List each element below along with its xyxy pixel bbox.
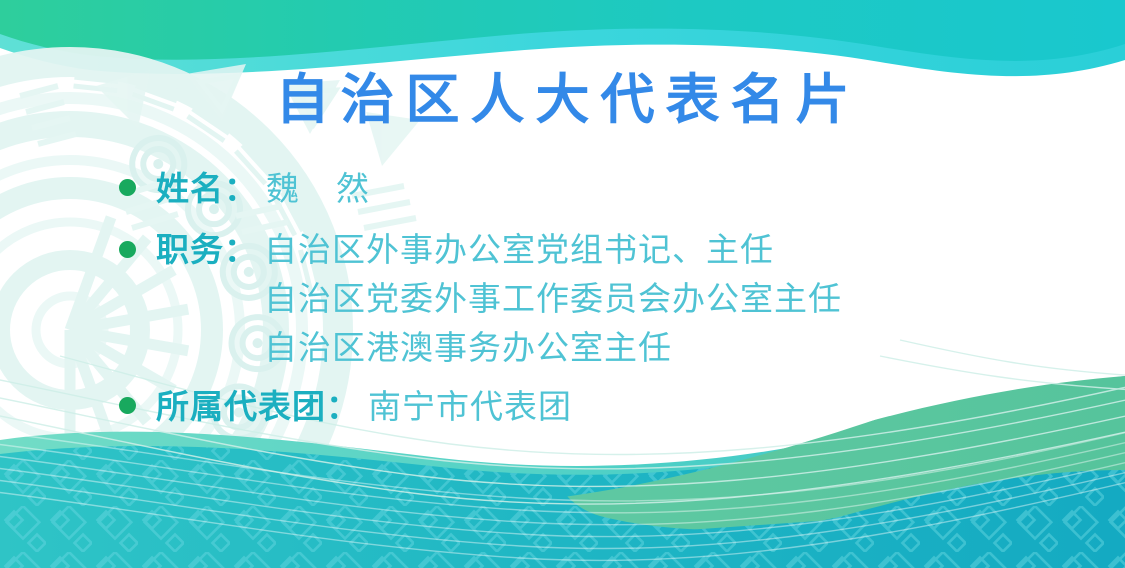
field-label-name: 姓名： [156, 164, 257, 213]
card-content: 自治区人大代表名片 姓名： 魏 然 职务： 自治区外事办公室党组书记、主任 自治… [0, 0, 1125, 568]
bullet-dot-icon [119, 397, 136, 414]
bullet-dot-icon [119, 241, 136, 258]
field-list: 姓名： 魏 然 职务： 自治区外事办公室党组书记、主任 自治区党委外事工作委员会… [112, 164, 1112, 433]
page-title: 自治区人大代表名片 [0, 72, 1125, 129]
field-label-position: 职务： [156, 225, 257, 274]
position-line-1: 自治区外事办公室党组书记、主任 [264, 225, 842, 274]
field-position: 职务： 自治区外事办公室党组书记、主任 自治区党委外事工作委员会办公室主任 自治… [112, 225, 1112, 372]
field-value-position: 自治区外事办公室党组书记、主任 自治区党委外事工作委员会办公室主任 自治区港澳事… [257, 225, 842, 372]
bullet-dot-icon [119, 179, 136, 196]
representative-card-slide: 自治区人大代表名片 姓名： 魏 然 职务： 自治区外事办公室党组书记、主任 自治… [0, 0, 1125, 568]
field-delegation: 所属代表团： 南宁市代表团 [112, 382, 1112, 431]
field-label-delegation: 所属代表团： [156, 382, 359, 431]
field-value-delegation: 南宁市代表团 [359, 382, 572, 431]
field-value-name: 魏 然 [257, 164, 371, 213]
position-line-2: 自治区党委外事工作委员会办公室主任 [264, 274, 842, 323]
field-name: 姓名： 魏 然 [112, 164, 1112, 213]
position-line-3: 自治区港澳事务办公室主任 [264, 323, 842, 372]
